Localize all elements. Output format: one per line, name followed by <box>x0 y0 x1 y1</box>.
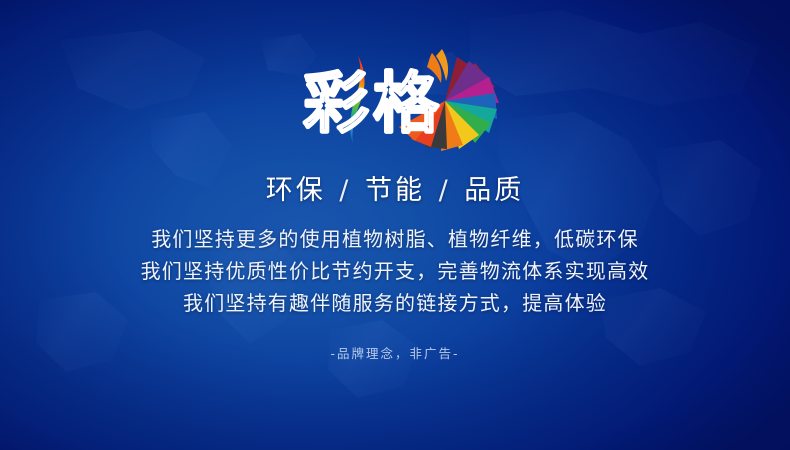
slogan-body: 我们坚持更多的使用植物树脂、植物纤维，低碳环保 我们坚持优质性价比节约开支，完善… <box>0 223 790 319</box>
slogan-part-1: 环保 <box>266 175 326 206</box>
slogan-part-2: 节能 <box>365 175 425 206</box>
slogan-separator-1: / <box>337 175 353 206</box>
logo-wordmark: 彩格 <box>303 65 443 142</box>
banner-content: 环保 / 节能 / 品质 我们坚持更多的使用植物树脂、植物纤维，低碳环保 我们坚… <box>0 172 790 363</box>
slogan-body-line-2: 我们坚持优质性价比节约开支，完善物流体系实现高效 <box>0 255 790 287</box>
brand-logo: 彩格 <box>295 38 510 163</box>
slogan-part-3: 品质 <box>464 175 524 206</box>
slogan-headline: 环保 / 节能 / 品质 <box>0 172 790 210</box>
promo-banner: 彩格 环保 / 节能 / 品质 我们坚持更多的使用植物树脂、植物纤维，低碳环保 … <box>0 0 790 450</box>
slogan-body-line-1: 我们坚持更多的使用植物树脂、植物纤维，低碳环保 <box>0 223 790 255</box>
brand-footnote: -品牌理念，非广告- <box>0 345 790 363</box>
slogan-body-line-3: 我们坚持有趣伴随服务的链接方式，提高体验 <box>0 287 790 319</box>
slogan-separator-2: / <box>437 175 453 206</box>
